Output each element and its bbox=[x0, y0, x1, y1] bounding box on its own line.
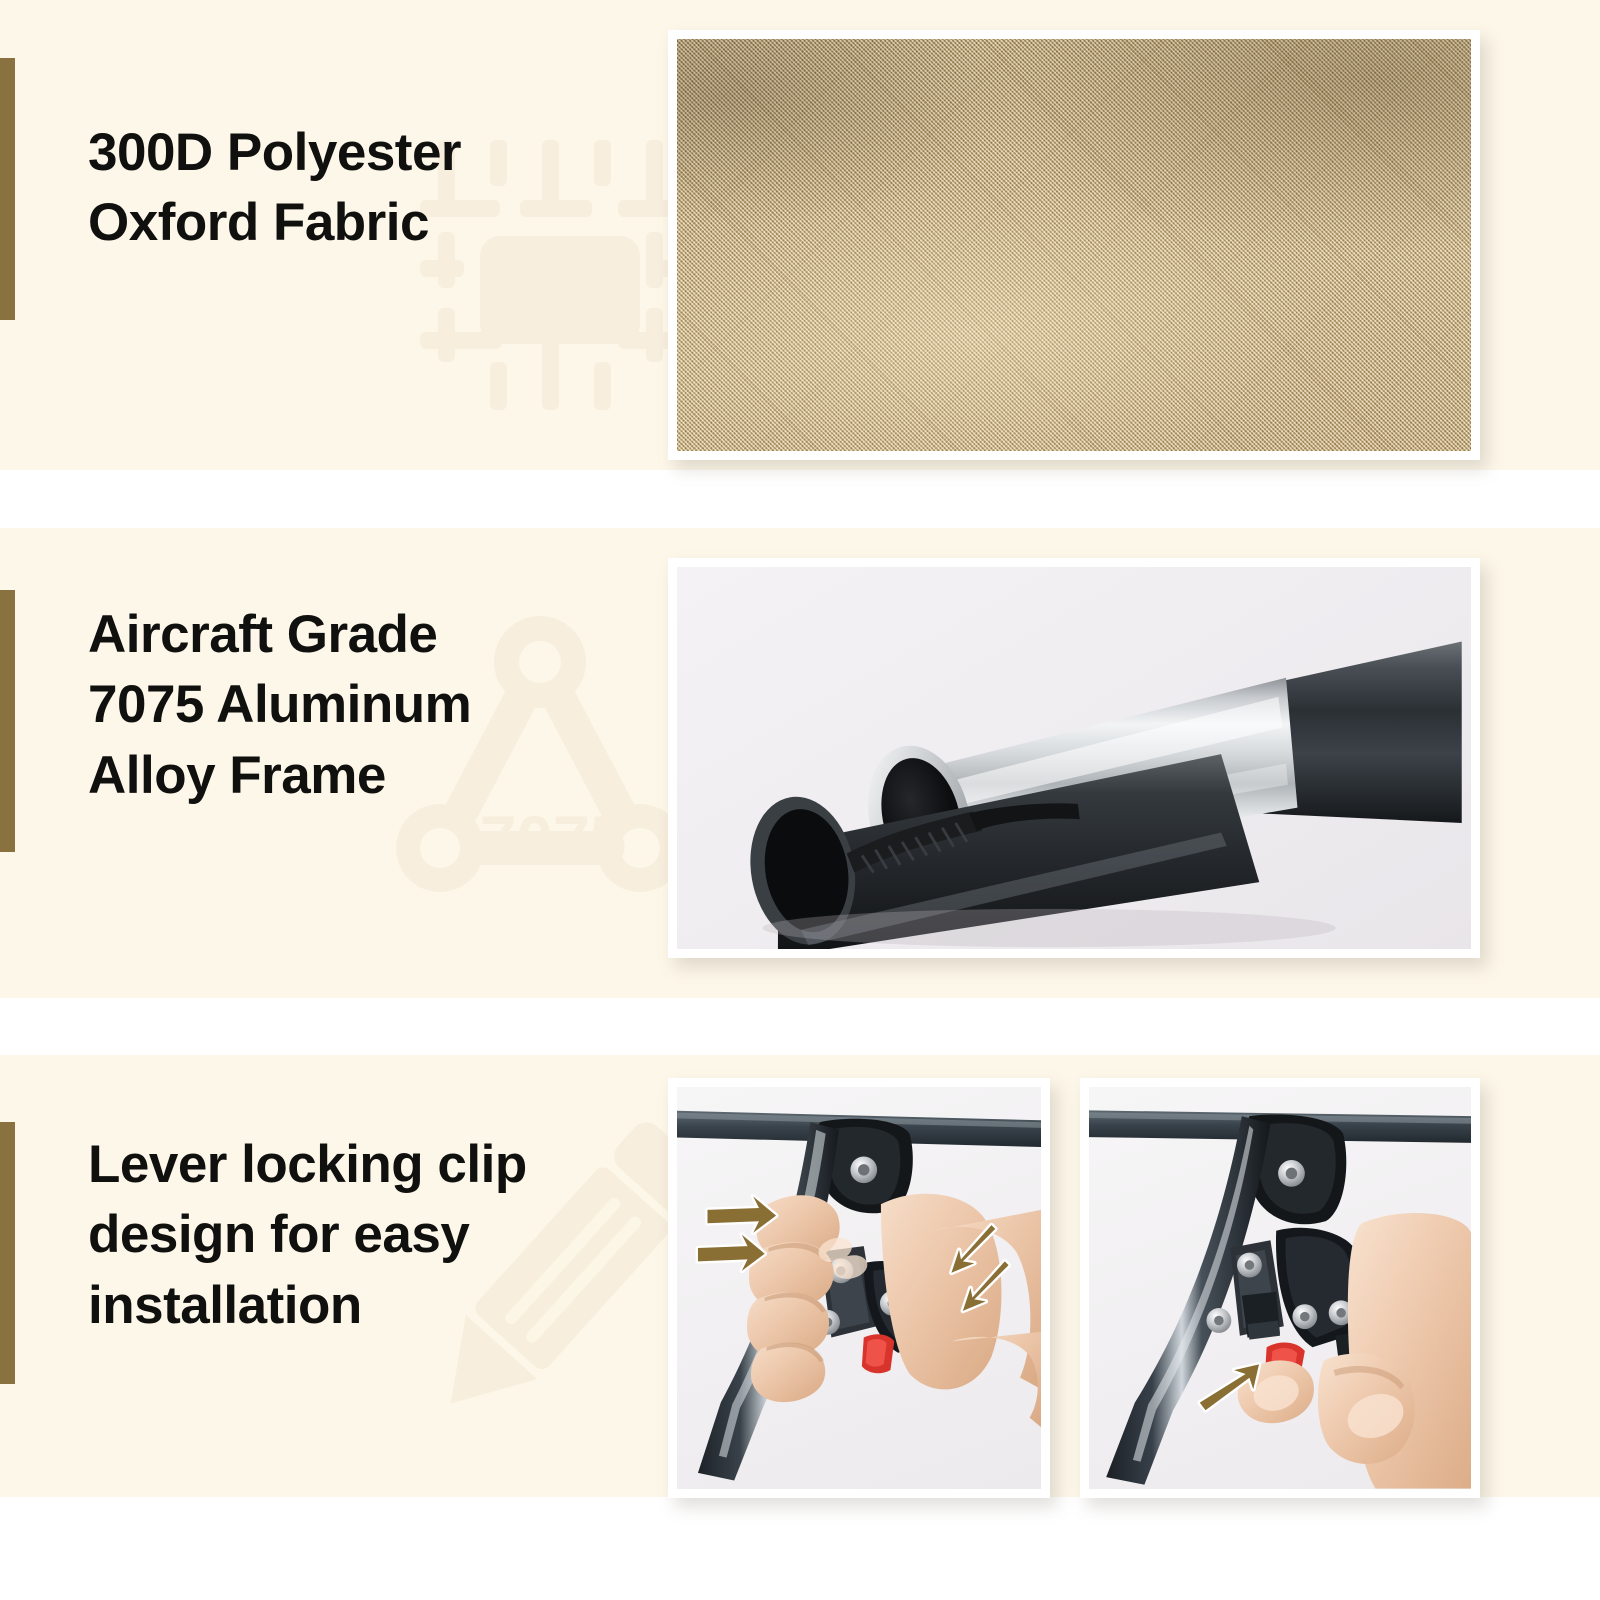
clip-squeeze-photo bbox=[668, 1078, 1050, 1498]
clip-release-photo bbox=[1080, 1078, 1480, 1498]
accent-bar-clip bbox=[0, 1122, 15, 1384]
feature-headline-clip: Lever locking clip design for easy insta… bbox=[88, 1130, 527, 1341]
fabric-weave-texture bbox=[677, 39, 1471, 451]
product-feature-infographic: 300D 300D Polyester Oxford Fabric 7 bbox=[0, 0, 1600, 1600]
accent-bar-fabric bbox=[0, 58, 15, 320]
feature-headline-frame: Aircraft Grade 7075 Aluminum Alloy Frame bbox=[88, 600, 471, 811]
fabric-swatch-photo bbox=[668, 30, 1480, 460]
aluminum-tube-photo bbox=[668, 558, 1480, 958]
accent-bar-frame bbox=[0, 590, 15, 852]
feature-headline-fabric: 300D Polyester Oxford Fabric bbox=[88, 118, 461, 259]
